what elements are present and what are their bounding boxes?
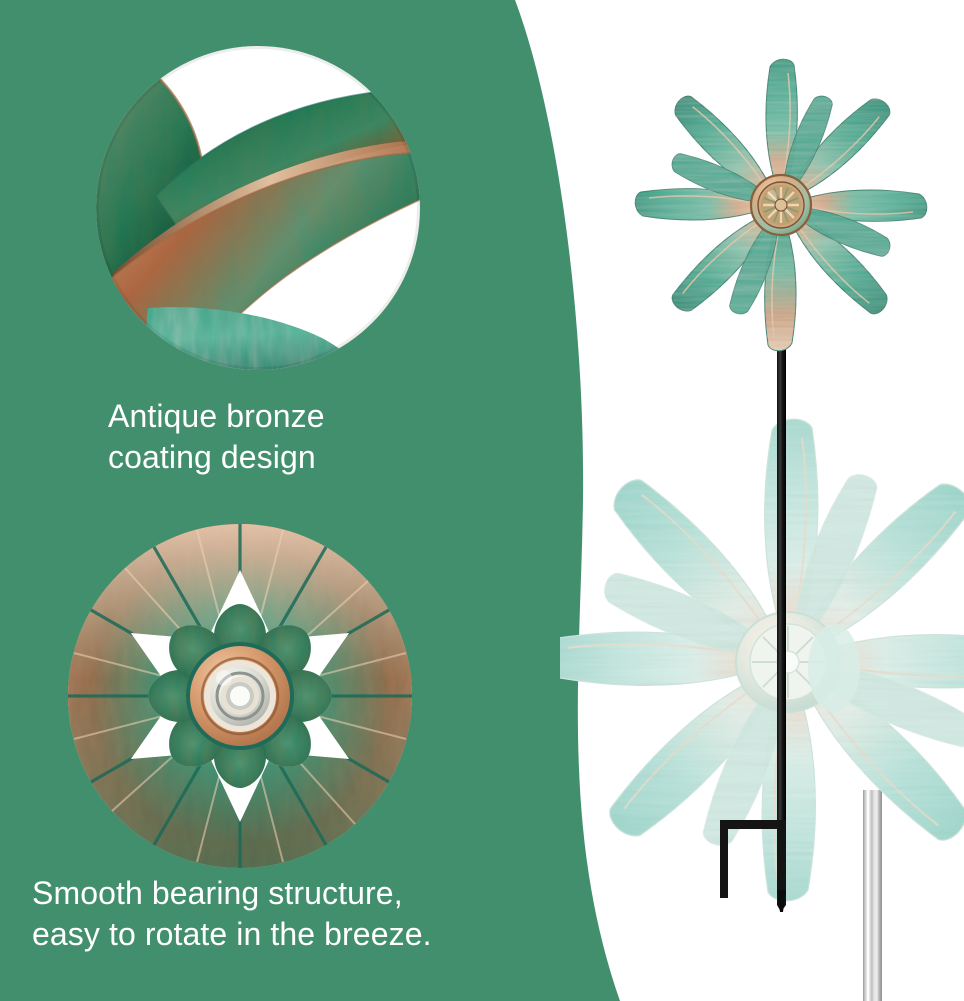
- hub-rosette-ribs-secondary: [764, 188, 798, 222]
- lower-flower-hub: [736, 612, 860, 712]
- lower-petal: [765, 419, 818, 652]
- upper-petal: [765, 211, 796, 351]
- stake-fork-left-prong: [720, 820, 728, 898]
- upper-petal-inner: [725, 205, 791, 318]
- bearing-hub-closeup-circle: [66, 522, 414, 870]
- black-stake-rod: [720, 296, 786, 912]
- upper-petal: [635, 189, 775, 220]
- caption-antique-bronze: Antique bronze coating design: [108, 396, 325, 478]
- bearing-bore: [230, 686, 250, 706]
- lower-petal: [600, 646, 802, 848]
- upper-petal: [766, 59, 797, 199]
- lower-petal: [560, 632, 782, 685]
- upper-petal-inner: [781, 195, 894, 261]
- chrome-extension-pole: [863, 790, 882, 1001]
- upper-petal-inner: [668, 149, 781, 215]
- lower-petal-inner: [598, 566, 793, 677]
- upper-petal: [774, 199, 895, 320]
- upper-flower-hub: [751, 175, 811, 235]
- lower-flower-rotor: [560, 419, 964, 901]
- lower-petal: [798, 635, 964, 688]
- upper-petal: [666, 198, 787, 319]
- lower-petal: [762, 668, 815, 901]
- upper-petal-inner: [771, 92, 837, 205]
- bearing-specular: [216, 670, 232, 686]
- lower-petal: [776, 648, 964, 850]
- ball-bearing-assembly: [186, 642, 294, 750]
- product-feature-image: Antique bronze coating design Smooth bea…: [0, 0, 964, 1001]
- petal-closeup-circle: [96, 46, 420, 370]
- lower-petal: [778, 472, 964, 674]
- upper-flower-rotor: [635, 59, 927, 351]
- lower-petal: [602, 470, 804, 672]
- lower-petal-inner: [788, 644, 964, 755]
- hub-rosette-ribs: [763, 187, 799, 223]
- upper-petal: [667, 90, 788, 211]
- upper-petal: [787, 190, 927, 221]
- lower-petal-inner: [774, 468, 885, 663]
- stake-fork-right-prong: [777, 820, 786, 912]
- stake-rod-tip: [777, 890, 786, 912]
- bearing-blade-disc: [68, 524, 412, 868]
- caption-smooth-bearing: Smooth bearing structure, easy to rotate…: [32, 873, 432, 955]
- lower-petal-inner: [696, 658, 807, 853]
- stake-fork-crossbar: [720, 820, 786, 829]
- wind-spinner-product: [560, 0, 964, 1001]
- upper-petal: [775, 91, 896, 212]
